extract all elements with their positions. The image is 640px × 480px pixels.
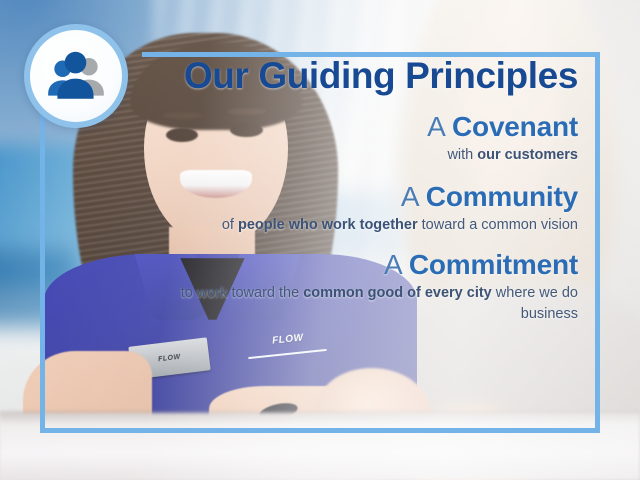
principle-community-heading: A Community [150,180,578,213]
commitment-sub-part-2: where we do business [492,285,578,322]
principle-community-article: A [401,181,426,212]
principle-community: A Community of people who work together … [150,180,578,236]
principle-covenant-subtext: with our customers [150,145,578,166]
community-sub-part-1: people who work together [238,217,418,233]
principle-commitment: A Commitment to work toward the common g… [150,248,578,324]
principle-commitment-heading: A Commitment [150,248,578,281]
people-group-badge [24,24,128,128]
commitment-sub-part-0: to work toward the [181,285,304,301]
covenant-sub-part-1: our customers [477,147,578,163]
principle-covenant-heading: A Covenant [150,110,578,143]
principle-covenant-article: A [427,111,452,142]
commitment-sub-part-1: common good of every city [303,285,492,301]
copy-block: Our Guiding Principles A Covenant with o… [150,56,578,330]
marketing-graphic: FLOW FLOW [0,0,640,480]
people-group-icon [43,43,109,109]
principle-covenant: A Covenant with our customers [150,110,578,166]
page-title: Our Guiding Principles [150,56,578,96]
principle-commitment-article: A [384,249,409,280]
community-sub-part-2: toward a common vision [418,217,578,233]
covenant-sub-part-0: with [447,147,477,163]
principle-community-subtext: of people who work together toward a com… [150,215,578,236]
community-sub-part-0: of [222,217,238,233]
principle-community-word: Community [426,181,578,212]
principle-commitment-word: Commitment [409,249,578,280]
principle-commitment-subtext: to work toward the common good of every … [150,283,578,324]
principle-covenant-word: Covenant [452,111,578,142]
